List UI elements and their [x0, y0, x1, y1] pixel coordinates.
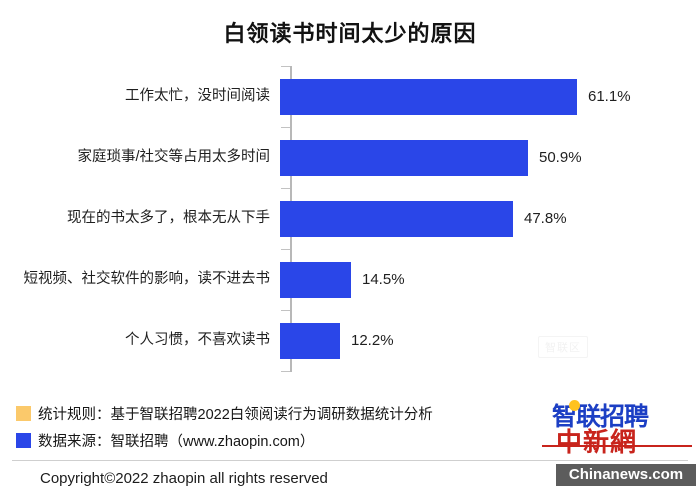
chart-watermark: 智联区	[538, 336, 588, 358]
bar-row: 工作太忙，没时间阅读 61.1%	[0, 66, 700, 127]
legend-swatch-source-icon	[16, 433, 31, 448]
bar-category-label: 工作太忙，没时间阅读	[0, 88, 280, 105]
zhaopin-logo: 智联招聘	[552, 404, 648, 429]
bar-track: 14.5%	[280, 249, 700, 310]
chinanews-logo-zh: 中新網	[556, 428, 637, 458]
bar-value-label: 50.9%	[539, 149, 582, 166]
bar-track: 47.8%	[280, 188, 700, 249]
bar-segment[interactable]	[280, 140, 528, 176]
bar-track: 50.9%	[280, 127, 700, 188]
bar-value-label: 61.1%	[588, 88, 631, 105]
legend-swatch-rule-icon	[16, 406, 31, 421]
zhaopin-dot-icon	[569, 400, 580, 411]
footer-divider	[12, 460, 688, 461]
footnote-text: 统计规则：基于智联招聘2022白领阅读行为调研数据统计分析	[38, 403, 433, 424]
bar-row: 家庭琐事/社交等占用太多时间 50.9%	[0, 127, 700, 188]
bar-track: 61.1%	[280, 66, 700, 127]
footnote-row: 统计规则：基于智联招聘2022白领阅读行为调研数据统计分析	[16, 400, 536, 427]
infographic-root: 白领读书时间太少的原因 工作太忙，没时间阅读 61.1% 家庭琐事/社交等占用太…	[0, 0, 700, 504]
bar-category-label: 家庭琐事/社交等占用太多时间	[0, 149, 280, 166]
footnote-text: 数据来源：智联招聘（www.zhaopin.com）	[38, 430, 314, 451]
bar-category-label: 短视频、社交软件的影响，读不进去书	[0, 271, 280, 288]
bar-segment[interactable]	[280, 323, 340, 359]
bar-segment[interactable]	[280, 79, 577, 115]
bar-row: 短视频、社交软件的影响，读不进去书 14.5%	[0, 249, 700, 310]
chinanews-logo: 中新網 Chinanews.com	[556, 430, 637, 456]
bar-track: 12.2%	[280, 310, 700, 371]
bar-segment[interactable]	[280, 201, 513, 237]
page-title: 白领读书时间太少的原因	[0, 16, 700, 48]
bar-category-label: 个人习惯，不喜欢读书	[0, 332, 280, 349]
bar-segment[interactable]	[280, 262, 351, 298]
footnote-row: 数据来源：智联招聘（www.zhaopin.com）	[16, 427, 536, 454]
bar-value-label: 47.8%	[524, 210, 567, 227]
bar-row: 个人习惯，不喜欢读书 12.2%	[0, 310, 700, 371]
bar-category-label: 现在的书太多了，根本无从下手	[0, 210, 280, 227]
bar-rows: 工作太忙，没时间阅读 61.1% 家庭琐事/社交等占用太多时间 50.9% 现在…	[0, 66, 700, 372]
chinanews-logo-en: Chinanews.com	[556, 464, 696, 486]
bar-value-label: 12.2%	[351, 332, 394, 349]
footnotes: 统计规则：基于智联招聘2022白领阅读行为调研数据统计分析 数据来源：智联招聘（…	[16, 400, 536, 454]
zhaopin-logo-text: 智联招聘	[552, 402, 648, 431]
bar-row: 现在的书太多了，根本无从下手 47.8%	[0, 188, 700, 249]
bar-value-label: 14.5%	[362, 271, 405, 288]
chinanews-logo-rule	[542, 445, 692, 447]
copyright-text: Copyright©2022 zhaopin all rights reserv…	[40, 470, 328, 487]
bar-chart: 工作太忙，没时间阅读 61.1% 家庭琐事/社交等占用太多时间 50.9% 现在…	[0, 66, 700, 376]
